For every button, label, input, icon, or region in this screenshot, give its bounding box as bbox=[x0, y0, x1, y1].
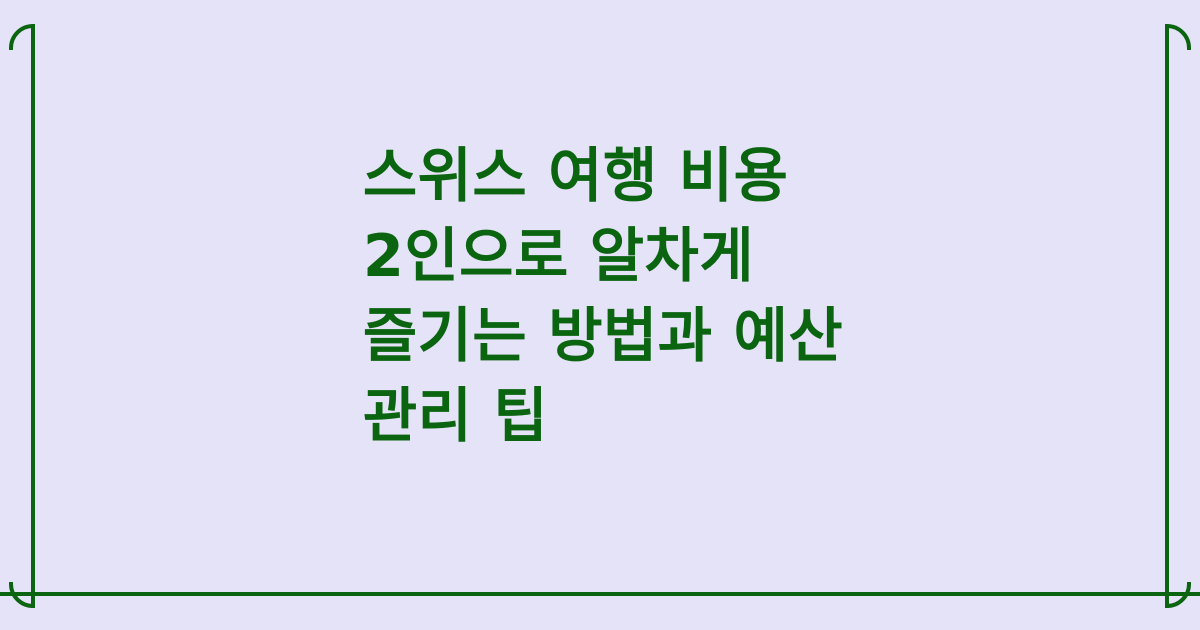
poster-card: 스위스 여행 비용 2인으로 알차게 즐기는 방법과 예산 관리 팁 bbox=[0, 0, 1200, 630]
page-title: 스위스 여행 비용 2인으로 알차게 즐기는 방법과 예산 관리 팁 bbox=[357, 136, 843, 456]
title-container: 스위스 여행 비용 2인으로 알차게 즐기는 방법과 예산 관리 팁 bbox=[0, 0, 1200, 592]
title-line-2: 2인으로 알차게 bbox=[363, 216, 843, 296]
title-line-1: 스위스 여행 비용 bbox=[363, 136, 843, 216]
title-line-3: 즐기는 방법과 예산 bbox=[363, 296, 843, 376]
title-line-4: 관리 팁 bbox=[363, 376, 843, 456]
